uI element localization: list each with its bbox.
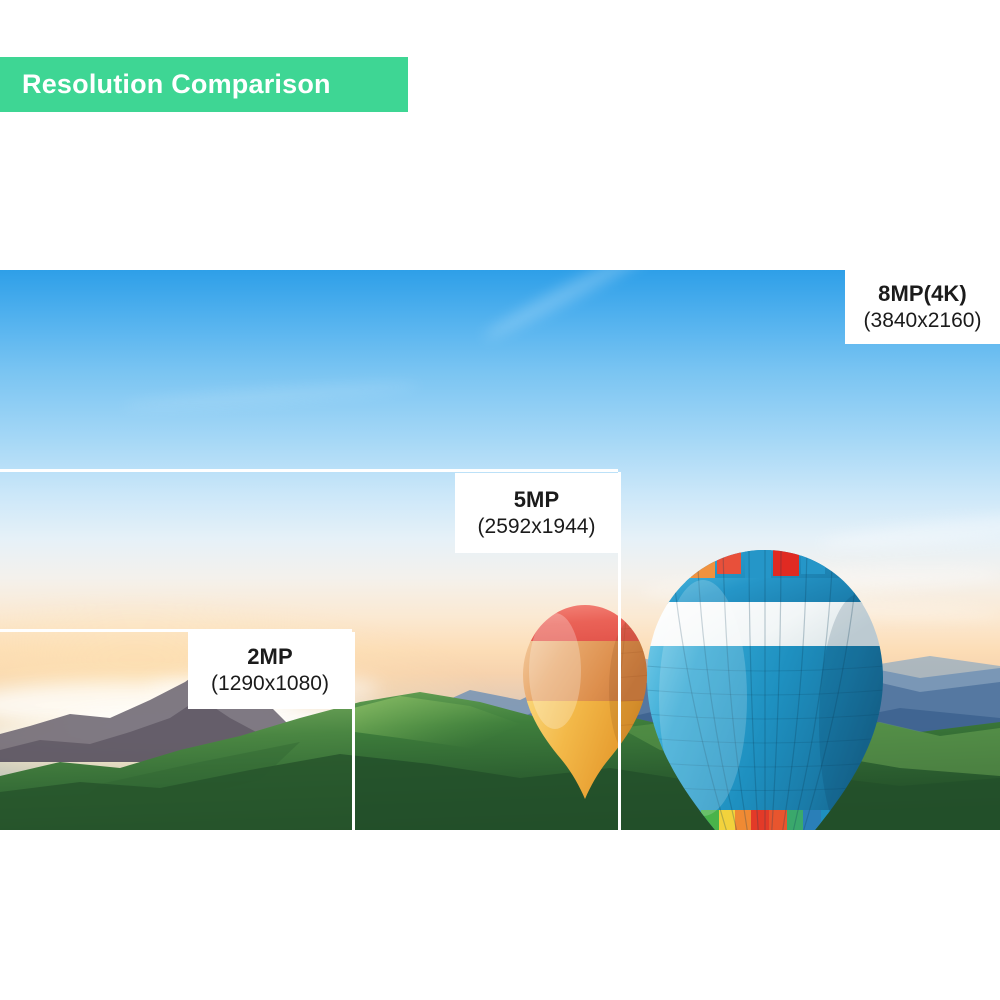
resolution-label-2mp-dimensions: (1290x1080)	[211, 672, 329, 696]
resolution-label-2mp-title: 2MP	[247, 645, 293, 670]
resolution-label-5mp-title: 5MP	[514, 488, 560, 513]
page-title: Resolution Comparison	[22, 69, 331, 100]
resolution-label-8mp-dimensions: (3840x2160)	[864, 309, 982, 333]
resolution-label-8mp-title: 8MP(4K)	[878, 282, 967, 307]
title-banner: Resolution Comparison	[0, 57, 408, 112]
resolution-label-5mp-dimensions: (2592x1944)	[478, 515, 596, 539]
resolution-label-2mp: 2MP (1290x1080)	[188, 631, 352, 709]
resolution-label-8mp: 8MP(4K) (3840x2160)	[845, 270, 1000, 344]
resolution-label-5mp: 5MP (2592x1944)	[455, 473, 618, 553]
green-mountain-foreground	[0, 740, 352, 830]
blue-hot-air-balloon	[645, 548, 885, 830]
orange-hot-air-balloon	[521, 603, 618, 808]
